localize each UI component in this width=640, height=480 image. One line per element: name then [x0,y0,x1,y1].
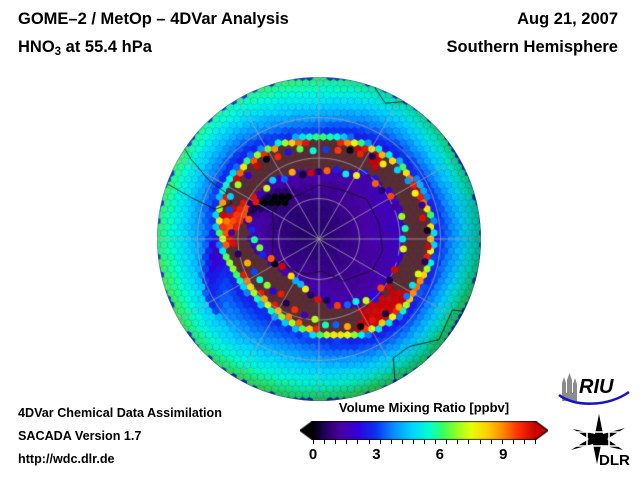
colorbar-label-9: 9 [499,446,507,463]
footer-line-version: SACADA Version 1.7 [18,425,222,448]
colorbar-label-3: 3 [372,446,380,463]
species-subscript: 3 [55,46,61,58]
polar-projection-disc [157,77,481,401]
colorbar-label-0: 0 [309,446,317,463]
colorbar-ticks [300,440,548,445]
footer-line-url: http://wdc.dlr.de [18,448,222,471]
colorbar-gradient [300,421,548,440]
page-subtitle: HNO3 at 55.4 hPa [18,38,152,57]
colorbar-label-6: 6 [436,446,444,463]
pressure-level-label: at 55.4 hPa [61,38,152,56]
riu-wordmark: RIU [579,376,614,398]
hemisphere-label: Southern Hemisphere [447,38,618,57]
dlr-wordmark: DLR [599,452,630,468]
dlr-logo: DLR [563,412,633,468]
footer-line-assimilation: 4DVar Chemical Data Assimilation [18,402,222,425]
colorbar: Volume Mixing Ratio [ppbv] 0369 [300,400,548,466]
riu-logo: RIU [556,371,632,405]
colorbar-title: Volume Mixing Ratio [ppbv] [300,400,548,415]
footer: 4DVar Chemical Data Assimilation SACADA … [18,402,222,471]
page-title: GOME–2 / MetOp – 4DVar Analysis [18,10,289,29]
colorbar-tick-labels: 0369 [300,446,548,466]
date-label: Aug 21, 2007 [517,10,618,29]
riu-spire-icon [562,373,577,401]
map-field-canvas [157,77,481,401]
polar-map [157,77,481,401]
species-label: HNO [18,38,55,56]
